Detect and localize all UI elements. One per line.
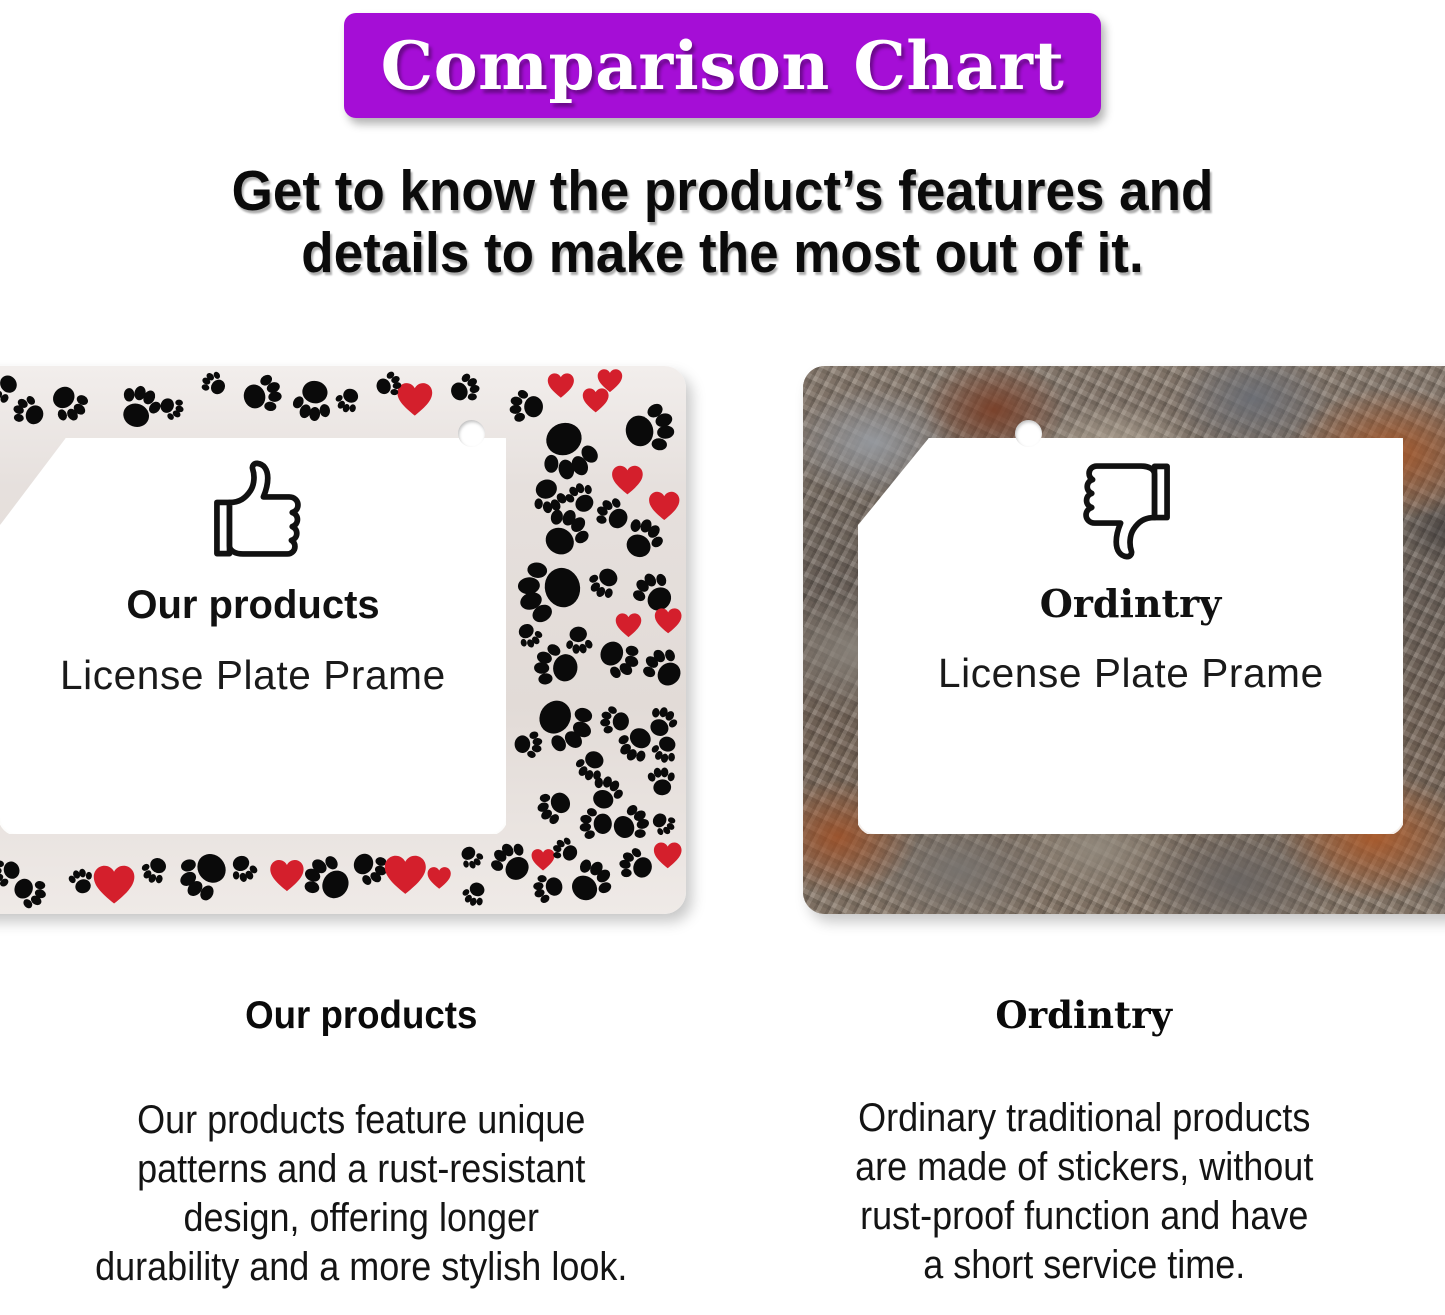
paw-print-icon [301, 853, 354, 911]
paw-print-icon [512, 728, 545, 766]
comparison-descriptions: Our products Our products feature unique… [0, 995, 1445, 1315]
title-banner: Comparison Chart [344, 13, 1101, 118]
plate-window-right [858, 438, 1403, 834]
our-product-license-plate-frame [0, 366, 686, 914]
paw-print-icon [641, 646, 686, 696]
paw-print-icon [563, 624, 595, 661]
ordinary-product-license-plate-frame [803, 366, 1445, 914]
ordinary-product-bottom-body: Ordinary traditional products are made o… [759, 1094, 1409, 1290]
paw-print-icon [535, 787, 574, 831]
paw-print-icon [67, 867, 96, 901]
ordinary-product-frame-holder: Ordintry License Plate Prame [803, 366, 1445, 914]
paw-print-icon [374, 370, 403, 404]
product-comparison-images: Our products License Plate Prame Ordintr… [0, 366, 1445, 914]
heart-icon [653, 606, 683, 641]
paw-print-icon [200, 370, 228, 403]
paw-print-icon [587, 565, 622, 605]
paw-print-icon [621, 400, 678, 462]
our-product-description-column: Our products Our products feature unique… [0, 995, 723, 1315]
our-product-bottom-heading: Our products [22, 995, 701, 1038]
paw-print-icon [158, 394, 185, 426]
heart-icon [610, 463, 645, 503]
paw-print-icon [334, 386, 362, 419]
paw-print-icon [515, 621, 543, 654]
title-banner-wrapper: Comparison Chart [0, 13, 1445, 118]
ordinary-product-bottom-heading: Ordintry [723, 995, 1445, 1036]
paw-print-icon [551, 836, 580, 870]
our-product-bottom-body: Our products feature unique patterns and… [36, 1096, 686, 1292]
heart-icon [596, 367, 624, 400]
paw-print-icon [529, 476, 569, 521]
heart-icon [382, 852, 429, 904]
paw-print-icon [531, 871, 565, 910]
paw-print-icon [176, 847, 232, 908]
heart-icon [546, 371, 576, 406]
ordinary-product-description-column: Ordintry Ordinary traditional products a… [723, 995, 1445, 1315]
paw-print-icon [645, 765, 678, 803]
heart-icon [268, 857, 306, 900]
heart-icon [647, 489, 681, 528]
paw-print-icon [0, 371, 20, 409]
paw-print-icon [48, 382, 90, 429]
paw-print-icon [448, 372, 482, 411]
heart-icon [426, 865, 452, 896]
paw-print-icon [587, 774, 625, 817]
paw-print-icon [458, 844, 484, 875]
paw-print-icon [598, 704, 632, 743]
mounting-hole-left [458, 420, 485, 447]
mounting-hole-right [1015, 420, 1042, 447]
paw-print-icon [650, 734, 681, 770]
heart-icon [652, 840, 683, 876]
page-title: Comparison Chart [381, 33, 1065, 99]
our-product-frame-holder: Our products License Plate Prame [0, 366, 686, 914]
paw-print-icon [617, 846, 655, 889]
plate-window-left [0, 438, 506, 834]
paw-print-icon [489, 840, 534, 890]
paw-print-icon [228, 853, 259, 889]
paw-print-icon [240, 372, 285, 422]
page-subtitle: Get to know the product’s features and d… [51, 160, 1395, 284]
paw-print-icon [0, 856, 22, 893]
paw-print-icon [461, 880, 489, 913]
paw-print-icon [140, 855, 170, 890]
paw-print-icon [650, 810, 677, 842]
